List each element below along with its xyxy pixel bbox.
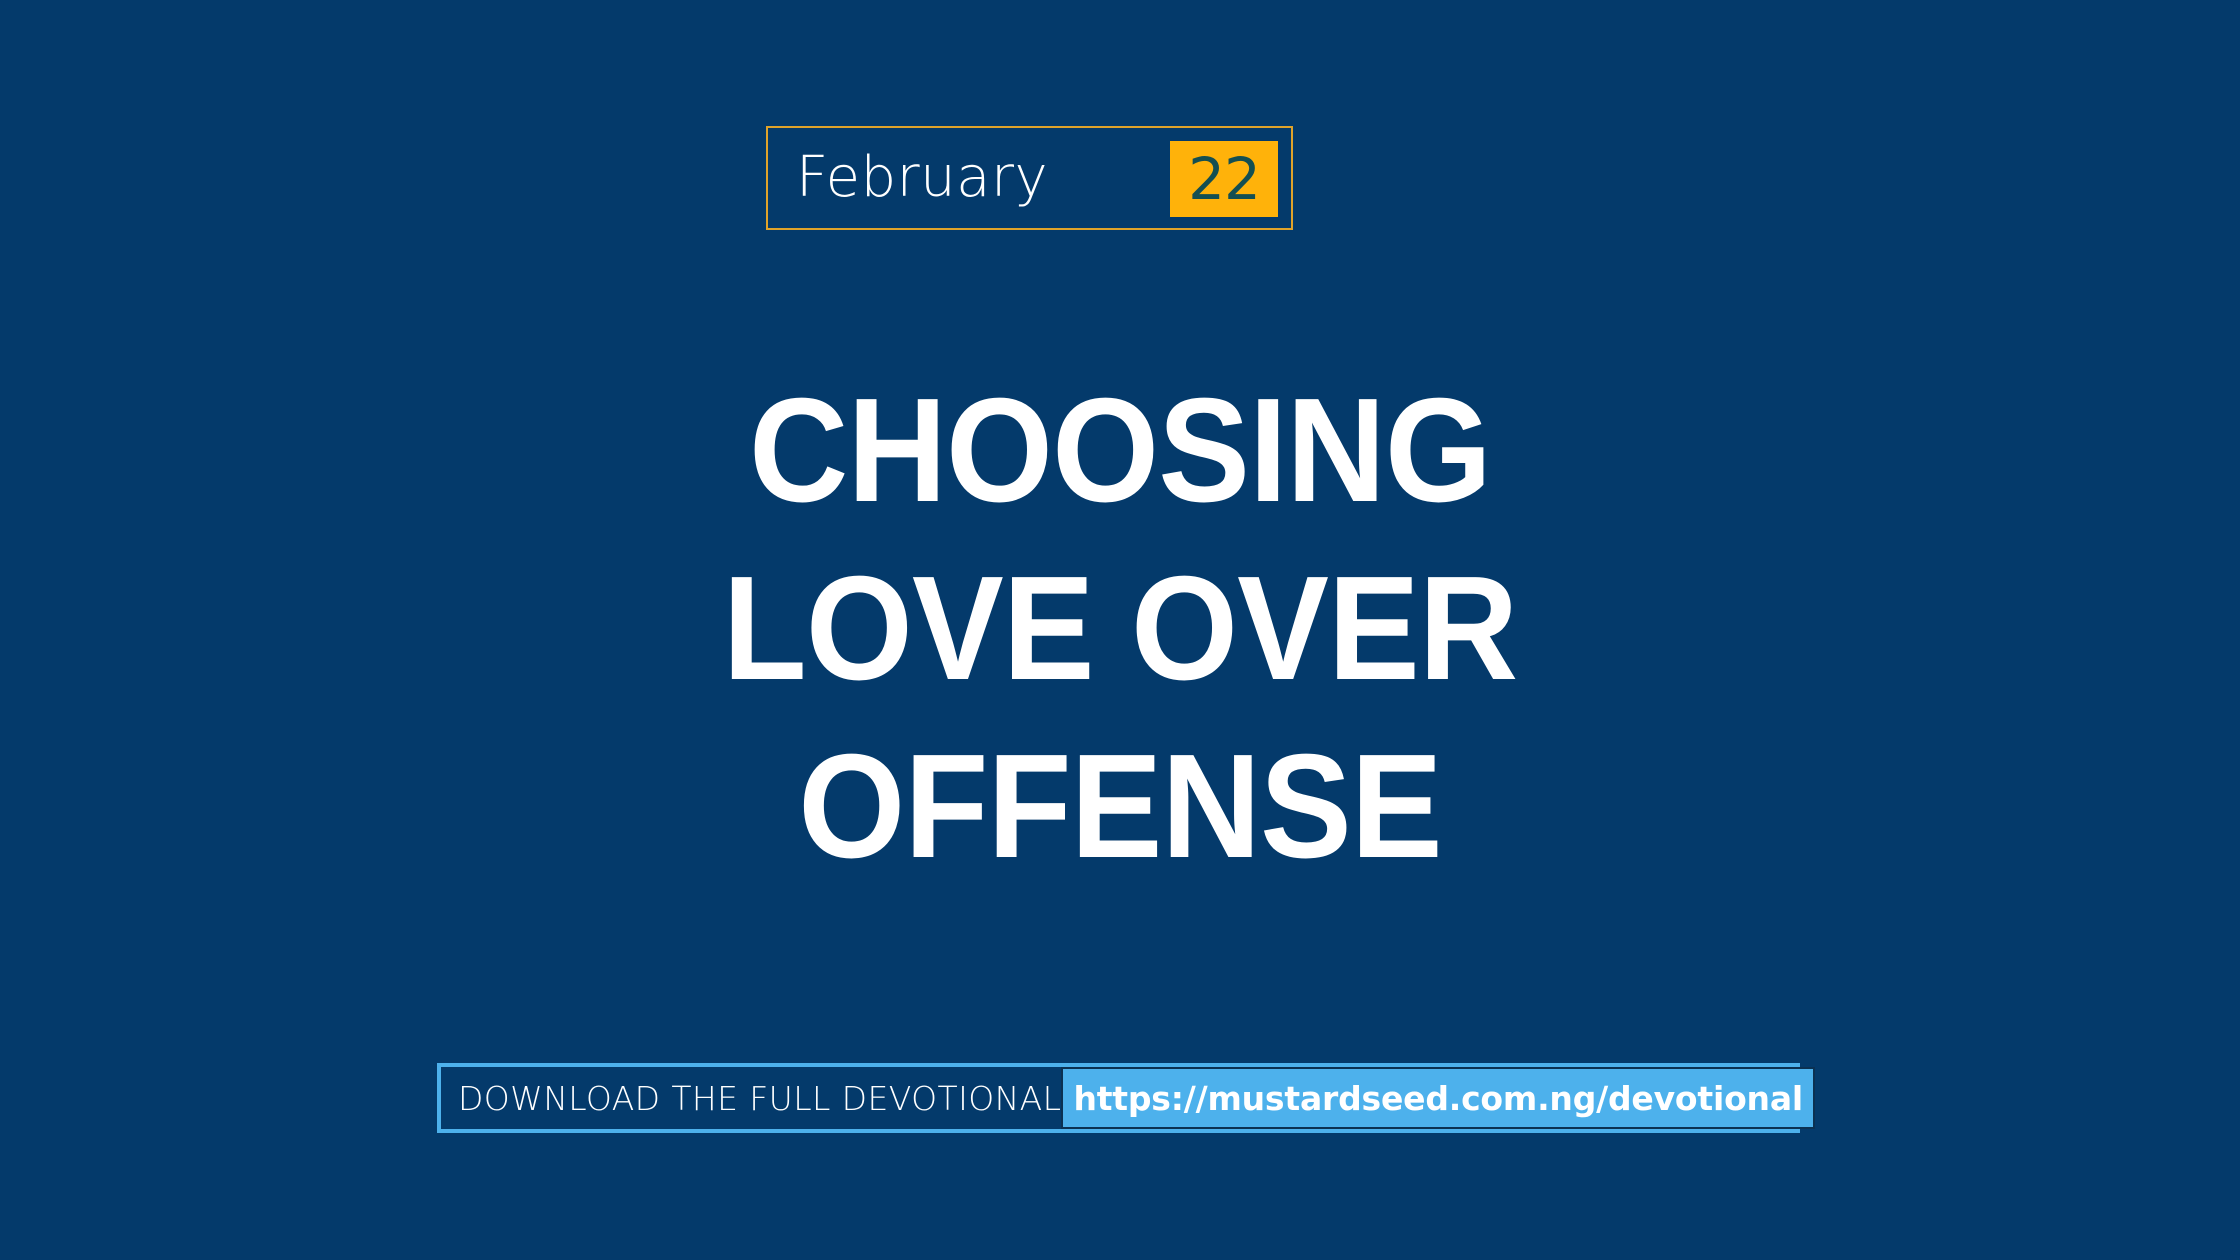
headline-line-2: LOVE OVER (78, 540, 2161, 718)
devotional-url-chip[interactable]: https://mustardseed.com.ng/devotional (1061, 1067, 1815, 1129)
date-month-label: February (796, 150, 1048, 206)
date-day-label: 22 (1188, 150, 1260, 208)
date-day-chip: 22 (1170, 141, 1278, 217)
headline-line-3: OFFENSE (78, 718, 2161, 896)
headline-block: CHOOSING LOVE OVER OFFENSE (0, 362, 2240, 896)
download-devotional-label: DOWNLOAD THE FULL DEVOTIONAL (441, 1067, 1061, 1129)
download-devotional-bar[interactable]: DOWNLOAD THE FULL DEVOTIONAL https://mus… (437, 1063, 1800, 1133)
devotional-slide: February 22 CHOOSING LOVE OVER OFFENSE D… (0, 0, 2240, 1260)
date-header: February 22 (766, 126, 1293, 230)
headline-line-1: CHOOSING (78, 362, 2161, 540)
devotional-url-text[interactable]: https://mustardseed.com.ng/devotional (1073, 1082, 1803, 1115)
